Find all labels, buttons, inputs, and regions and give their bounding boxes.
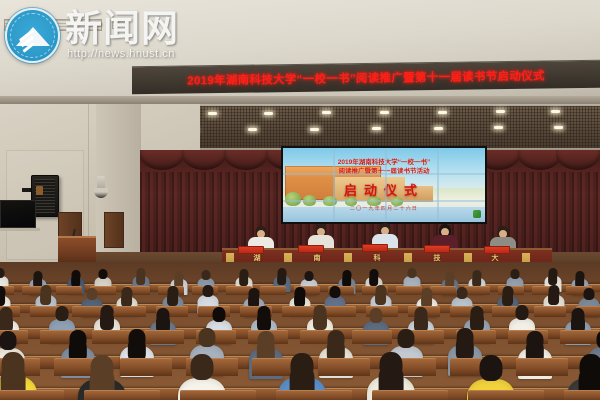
person-head xyxy=(480,355,503,381)
person-head xyxy=(56,306,69,321)
person-head xyxy=(33,271,42,281)
person-head xyxy=(548,285,559,297)
person-head xyxy=(239,269,248,279)
stage-light xyxy=(380,111,389,114)
stage-light xyxy=(496,110,505,113)
person-head xyxy=(375,285,386,297)
person-head xyxy=(191,354,214,380)
person-head xyxy=(314,305,327,320)
name-placard xyxy=(484,246,510,254)
person-head xyxy=(294,287,305,299)
person-head xyxy=(202,285,213,297)
person-head xyxy=(304,271,313,281)
auditorium-seat xyxy=(352,330,392,344)
person-head xyxy=(201,270,210,280)
name-placard xyxy=(424,245,450,253)
person-head xyxy=(527,331,544,350)
auditorium-seat xyxy=(276,390,352,400)
wall-monitor xyxy=(0,200,36,228)
person-head xyxy=(572,308,585,323)
person-head xyxy=(445,271,454,281)
person-head xyxy=(91,355,114,381)
person-head xyxy=(329,286,340,298)
person-head xyxy=(457,328,474,347)
person-head xyxy=(248,288,259,300)
auditorium-seat xyxy=(372,390,448,400)
person-head xyxy=(121,287,132,299)
person-head xyxy=(277,268,286,278)
stage-light xyxy=(322,111,331,114)
person-head xyxy=(516,305,529,320)
stage-light xyxy=(208,112,217,115)
led-video-wall: 2019年湖南科技大学“一校一书” 阅读推广暨第十一届读书节活动 启动仪式 二〇… xyxy=(281,146,487,224)
auditorium-seat xyxy=(564,390,600,400)
person-head xyxy=(129,329,146,348)
site-name: 新闻网 xyxy=(65,9,179,49)
person-head xyxy=(548,268,557,278)
person-head xyxy=(456,287,467,299)
monitor-shelf xyxy=(0,228,40,231)
person-head xyxy=(597,330,600,349)
person-head xyxy=(199,328,216,347)
stage-light xyxy=(551,110,560,113)
person-head xyxy=(575,271,584,281)
name-placard xyxy=(238,246,264,254)
person-head xyxy=(415,307,428,322)
person-head xyxy=(40,285,51,297)
auditorium-seat xyxy=(468,390,544,400)
person-head xyxy=(101,305,114,320)
person-head xyxy=(98,269,107,279)
person-head xyxy=(580,354,600,380)
auditorium-seat xyxy=(84,390,160,400)
led-panel-seams xyxy=(283,148,485,222)
side-door xyxy=(104,212,124,248)
person-head xyxy=(213,307,226,322)
person-head xyxy=(0,307,13,322)
auditorium-seat xyxy=(120,358,172,376)
person-head xyxy=(471,306,484,321)
name-placard xyxy=(362,244,388,252)
person-head xyxy=(369,269,378,279)
person-head xyxy=(510,269,519,279)
person-head xyxy=(398,329,415,348)
stage-light xyxy=(554,126,563,129)
person-head xyxy=(258,306,271,321)
stage-light xyxy=(310,128,319,131)
person-head xyxy=(583,288,594,300)
speaker-grille xyxy=(35,179,55,213)
stage-light xyxy=(494,126,503,129)
person-head xyxy=(167,286,178,298)
person-head xyxy=(71,270,80,280)
person-head xyxy=(421,288,432,300)
person-head xyxy=(157,308,170,323)
auditorium-seat xyxy=(516,358,568,376)
site-url: http://news.hnust.cn xyxy=(67,48,175,60)
watermark: 新闻网 http://news.hnust.cn xyxy=(5,8,219,64)
person-head xyxy=(136,268,145,278)
person-head xyxy=(0,331,17,350)
person-head xyxy=(328,330,345,349)
person-head xyxy=(86,288,97,300)
person-head xyxy=(380,352,403,378)
person-head xyxy=(291,353,314,379)
person-head xyxy=(370,308,383,323)
person-head xyxy=(502,286,513,298)
auditorium-seat xyxy=(534,306,566,317)
person-head xyxy=(2,352,25,378)
person-head xyxy=(342,270,351,280)
person-head xyxy=(407,268,416,278)
hnust-university-crest-icon xyxy=(5,8,60,63)
person-head xyxy=(174,271,183,281)
person-head xyxy=(70,330,87,349)
auditorium-seat xyxy=(0,390,64,400)
stage-light xyxy=(438,111,447,114)
led-corner-logo xyxy=(473,210,481,218)
stage-light xyxy=(372,127,381,130)
auditorium-seat xyxy=(56,286,82,295)
stage-light xyxy=(248,128,257,131)
stage-light xyxy=(264,112,273,115)
event-banner-text: 2019年湖南科技大学“一校一书”阅读推广暨第十一届读书节启动仪式 xyxy=(187,67,544,88)
auditorium-seat xyxy=(180,390,256,400)
person-head xyxy=(258,331,275,350)
auditorium-photo: 2019年湖南科技大学“一校一书”阅读推广暨第十一届读书节启动仪式 2 xyxy=(0,0,600,400)
speaker-badge xyxy=(36,186,43,195)
person-head xyxy=(472,270,481,280)
stage-light xyxy=(434,127,443,130)
name-placard xyxy=(298,245,324,253)
